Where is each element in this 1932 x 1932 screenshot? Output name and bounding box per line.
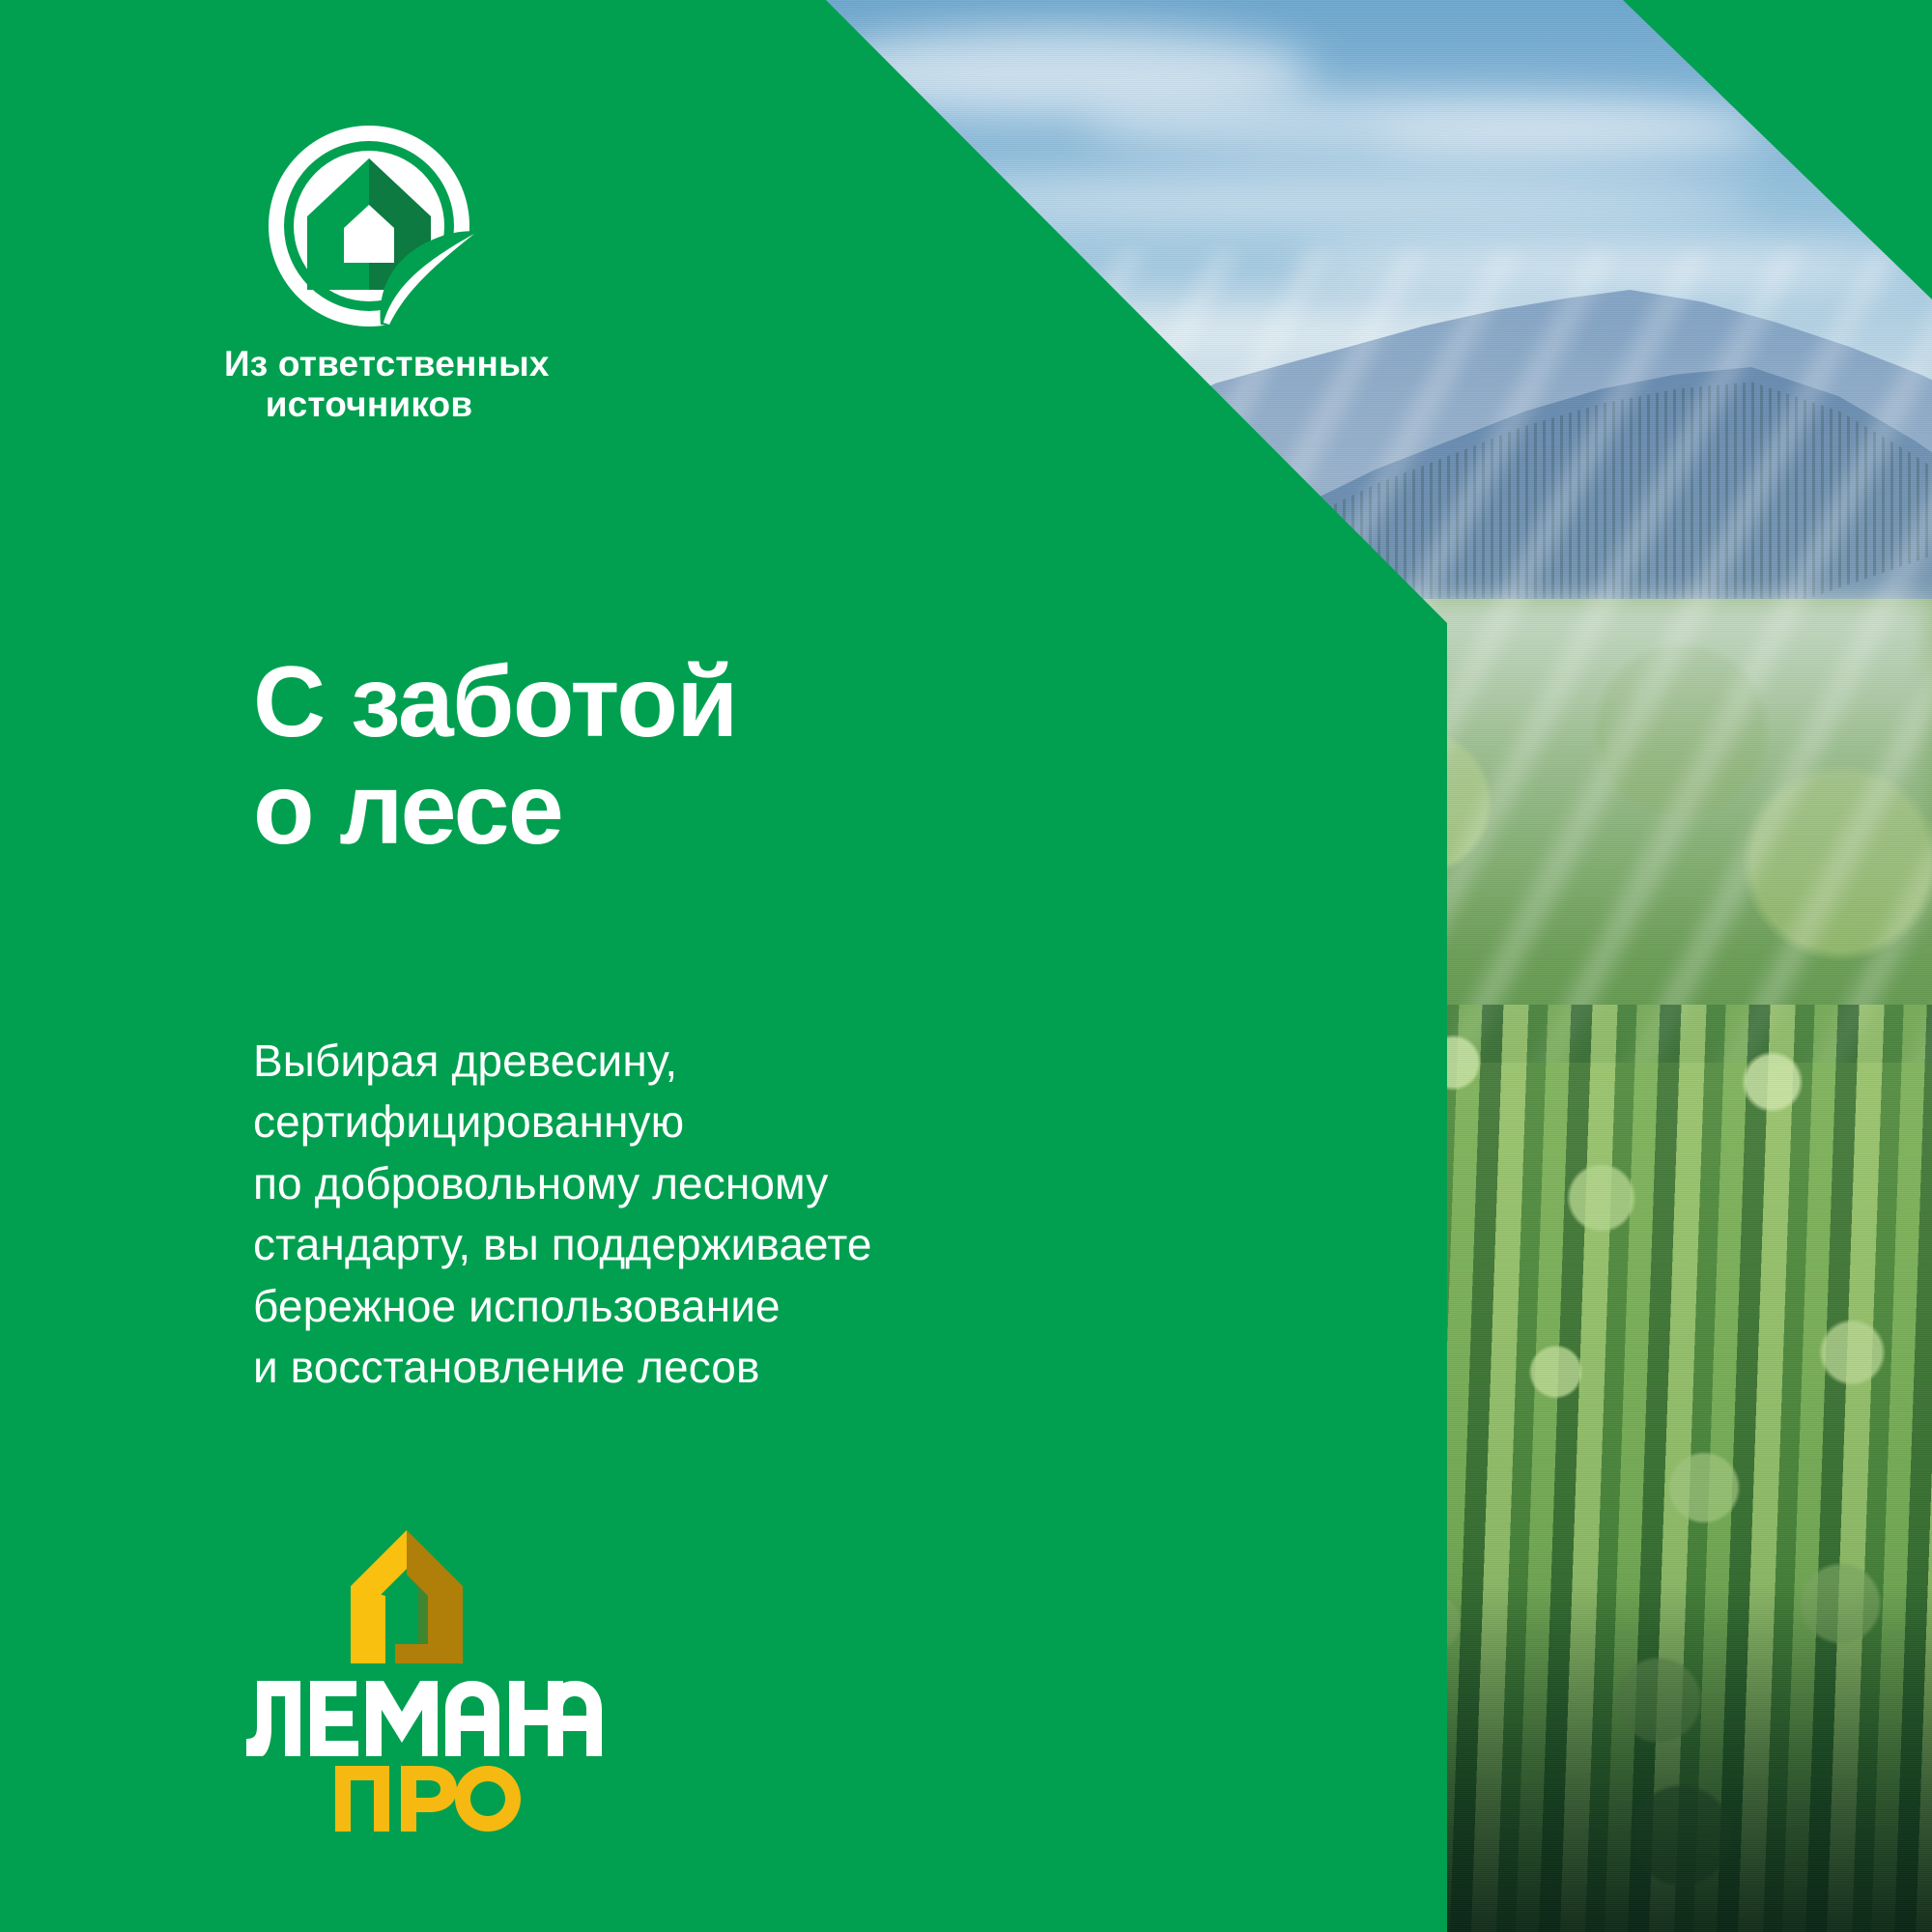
responsible-source-mark: Из ответственных источников bbox=[249, 124, 539, 425]
body-line-5: бережное использование bbox=[253, 1276, 872, 1337]
brand-subword bbox=[335, 1766, 521, 1832]
body-line-2: сертифицированную bbox=[253, 1092, 872, 1152]
promo-poster: Из ответственных источников С заботой о … bbox=[0, 0, 1932, 1932]
poster-content: Из ответственных источников С заботой о … bbox=[0, 0, 1449, 1932]
page-title: С заботой о лесе bbox=[253, 649, 737, 865]
source-caption-line-1: Из ответственных bbox=[224, 344, 514, 384]
body-line-6: и восстановление лесов bbox=[253, 1337, 872, 1398]
brand-wordmark bbox=[246, 1681, 602, 1756]
circle-house-leaf-icon bbox=[249, 124, 489, 328]
headline-line-1: С заботой bbox=[253, 649, 737, 756]
body-line-3: по добровольному лесному bbox=[253, 1153, 872, 1214]
body-line-4: стандарту, вы поддерживаете bbox=[253, 1214, 872, 1275]
responsible-source-caption: Из ответственных источников bbox=[224, 344, 514, 425]
headline-line-2: о лесе bbox=[253, 756, 737, 864]
brand-logo bbox=[246, 1528, 652, 1832]
leroy-house-icon bbox=[329, 1528, 484, 1665]
body-paragraph: Выбирая древесину, сертифицированную по … bbox=[253, 1031, 872, 1399]
body-line-1: Выбирая древесину, bbox=[253, 1031, 872, 1092]
source-caption-line-2: источников bbox=[224, 384, 514, 425]
